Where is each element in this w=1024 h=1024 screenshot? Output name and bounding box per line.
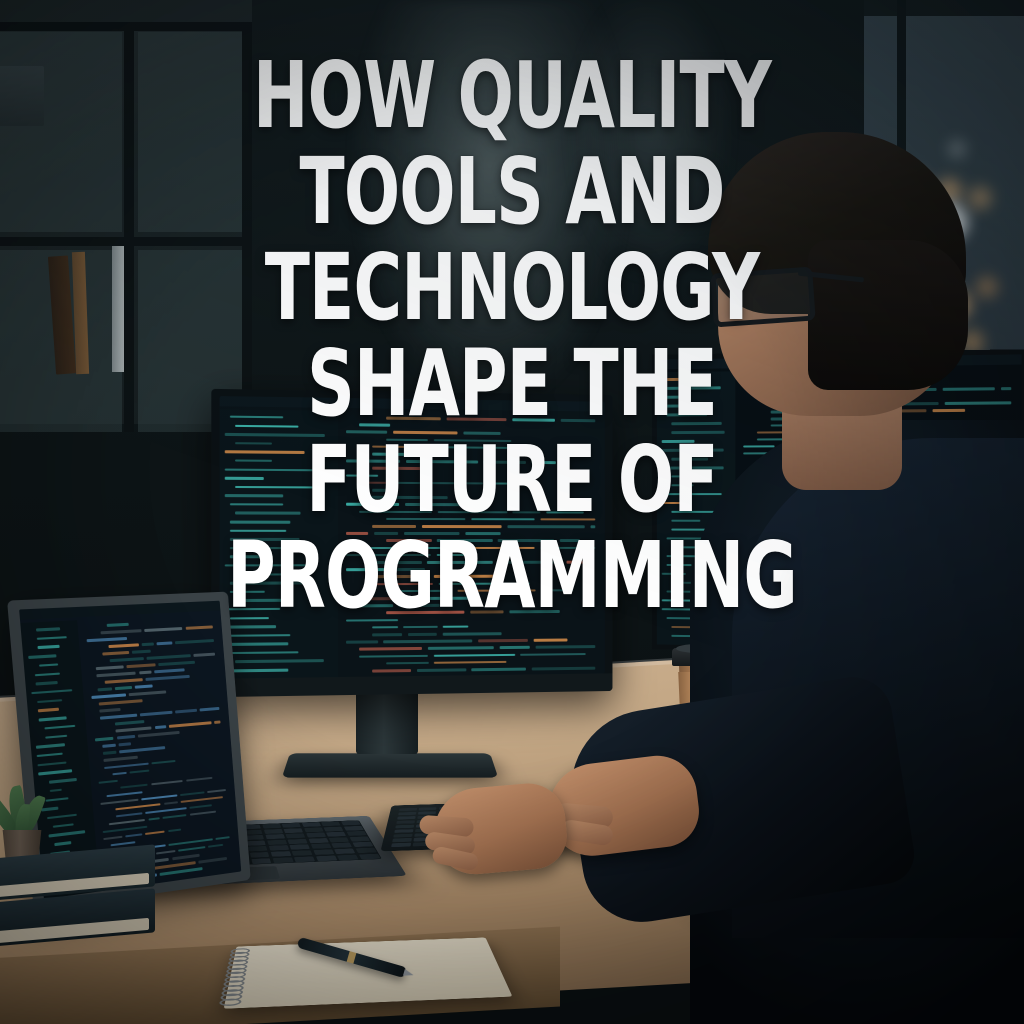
title-line: TOOLS AND xyxy=(102,144,921,240)
code-token xyxy=(102,651,129,655)
keyboard-key xyxy=(346,831,366,836)
code-token xyxy=(115,720,145,725)
keyboard-key xyxy=(393,834,412,838)
keyboard-key xyxy=(294,856,315,862)
keyboard-key xyxy=(321,821,340,826)
keyboard-key xyxy=(292,850,313,856)
file-tree-entry xyxy=(225,634,291,637)
code-token xyxy=(199,857,227,863)
code-token xyxy=(164,801,178,805)
keyboard-key xyxy=(341,821,360,826)
file-tree-entry xyxy=(235,660,324,664)
file-tree-entry xyxy=(38,708,59,712)
keyboard-key xyxy=(329,837,349,842)
keyboard-key xyxy=(344,826,364,831)
code-token xyxy=(120,783,148,789)
code-token xyxy=(190,810,216,816)
code-token xyxy=(145,675,190,681)
code-token xyxy=(145,627,183,632)
code-token xyxy=(109,819,145,826)
keyboard-key xyxy=(313,849,334,854)
title-line: HOW QUALITY xyxy=(102,48,921,144)
code-token xyxy=(115,686,132,690)
code-token xyxy=(175,639,214,644)
keyboard-key xyxy=(418,811,436,814)
poster-image: HOW QUALITY TOOLS AND TECHNOLOGY SHAPE T… xyxy=(0,0,1024,1024)
keyboard-key xyxy=(395,825,414,829)
keyboard-key xyxy=(359,854,380,860)
file-tree-entry xyxy=(36,681,58,685)
code-token xyxy=(472,668,527,671)
code-token xyxy=(119,743,131,747)
code-token xyxy=(130,769,149,774)
title-line: SHAPE THE xyxy=(102,336,921,432)
code-token xyxy=(152,760,175,765)
code-token xyxy=(154,669,184,674)
code-token xyxy=(100,798,138,805)
code-token xyxy=(384,640,473,644)
code-token xyxy=(104,762,149,769)
code-token xyxy=(107,791,143,798)
keyboard-key xyxy=(245,835,264,840)
code-token xyxy=(434,654,515,658)
code-token xyxy=(442,632,501,635)
file-tree-entry xyxy=(38,645,60,649)
code-token xyxy=(157,641,173,645)
keyboard-key xyxy=(267,840,287,845)
keyboard-key xyxy=(282,823,301,828)
title-line: TECHNOLOGY xyxy=(102,240,921,336)
code-token xyxy=(100,714,137,720)
monitor-base xyxy=(282,753,498,777)
file-tree-entry xyxy=(37,636,67,640)
code-token xyxy=(142,643,154,646)
code-token xyxy=(185,625,213,629)
monitor-stand xyxy=(356,688,418,754)
file-tree-entry xyxy=(36,627,60,631)
keyboard-key xyxy=(332,843,353,848)
file-tree-entry xyxy=(38,770,72,776)
keyboard-key xyxy=(392,838,411,842)
file-tree-entry xyxy=(53,823,74,828)
code-token xyxy=(104,678,142,683)
code-token xyxy=(141,794,177,801)
file-tree-entry xyxy=(225,643,289,646)
code-token xyxy=(373,633,403,636)
code-token xyxy=(100,708,121,712)
keyboard-key xyxy=(306,833,326,838)
file-tree-entry xyxy=(31,689,72,695)
keyboard-key xyxy=(266,834,285,839)
code-token xyxy=(208,844,223,849)
code-token xyxy=(532,667,595,670)
code-token xyxy=(129,691,167,696)
keyboard-key xyxy=(271,851,291,857)
code-token xyxy=(132,650,150,654)
code-token xyxy=(160,867,202,875)
keyboard-key xyxy=(308,838,328,843)
code-token xyxy=(151,780,183,786)
code-token xyxy=(520,653,585,656)
file-tree-entry xyxy=(36,743,66,748)
code-token xyxy=(145,807,187,814)
keyboard-key xyxy=(286,833,306,838)
keyboard-key xyxy=(394,829,413,833)
keyboard-key xyxy=(399,808,417,811)
code-token xyxy=(148,817,160,821)
keyboard-key xyxy=(324,827,344,832)
code-token xyxy=(536,646,596,649)
code-token xyxy=(126,663,155,668)
code-token xyxy=(139,671,151,674)
keyboard-key xyxy=(349,836,369,841)
code-token xyxy=(172,854,200,860)
code-token xyxy=(190,804,212,809)
file-tree-entry xyxy=(230,669,289,672)
code-token xyxy=(103,825,148,833)
book-stack xyxy=(0,844,155,951)
code-token xyxy=(140,711,172,716)
code-token xyxy=(135,685,152,689)
code-token xyxy=(115,812,142,818)
code-token xyxy=(359,655,428,658)
code-token xyxy=(145,830,165,835)
code-token xyxy=(186,776,212,781)
keyboard-key xyxy=(398,812,416,815)
code-token xyxy=(199,707,219,711)
code-token xyxy=(117,735,135,739)
keyboard-key xyxy=(249,852,269,858)
keyboard-key xyxy=(288,839,308,844)
window-frame xyxy=(864,0,1024,16)
keyboard-key xyxy=(251,858,272,864)
file-tree-entry xyxy=(39,663,58,667)
title-line: PROGRAMMING xyxy=(102,528,921,624)
code-token xyxy=(99,699,143,705)
code-token xyxy=(417,668,466,671)
file-tree-entry xyxy=(44,725,75,730)
code-token xyxy=(207,789,226,794)
keyboard-key xyxy=(311,844,331,849)
code-token xyxy=(373,669,412,672)
code-token xyxy=(180,791,204,796)
code-token xyxy=(91,694,125,699)
code-token xyxy=(215,836,229,840)
code-token xyxy=(125,833,142,838)
code-token xyxy=(96,666,123,670)
code-token xyxy=(169,722,212,728)
code-token xyxy=(155,726,167,730)
keyboard-key xyxy=(284,828,303,833)
keyboard-key xyxy=(352,842,373,847)
keyboard-key xyxy=(273,857,294,863)
code-token xyxy=(115,727,151,733)
spiral-ring xyxy=(219,998,242,1006)
file-tree-entry xyxy=(45,734,67,738)
keyboard-key xyxy=(290,844,310,849)
code-token xyxy=(181,796,223,803)
keyboard-key xyxy=(247,841,267,846)
code-token xyxy=(346,641,378,644)
keyboard-key xyxy=(419,807,437,810)
code-token xyxy=(109,657,143,662)
file-tree-entry xyxy=(28,654,56,658)
code-token xyxy=(386,662,429,665)
keyboard-key xyxy=(302,822,321,827)
keyboard-key xyxy=(248,846,268,851)
keyboard-key xyxy=(396,820,414,824)
keyboard-key xyxy=(269,845,289,850)
code-token xyxy=(98,779,117,784)
code-token xyxy=(178,846,205,852)
code-token xyxy=(138,731,180,737)
keyboard-key xyxy=(337,854,358,860)
code-token xyxy=(478,639,528,642)
code-token xyxy=(108,643,139,647)
code-token xyxy=(104,756,138,762)
code-token xyxy=(194,653,216,657)
file-tree-entry xyxy=(54,841,71,846)
code-token xyxy=(98,688,112,692)
file-tree-entry xyxy=(37,753,63,758)
keyboard-key xyxy=(264,829,283,834)
title-line: FUTURE OF xyxy=(102,432,921,528)
code-token xyxy=(359,647,422,650)
code-token xyxy=(159,661,195,666)
file-tree-entry xyxy=(225,651,298,654)
code-token xyxy=(156,850,176,855)
keyboard-key xyxy=(397,816,415,820)
code-token xyxy=(214,721,220,724)
spiral-notebook xyxy=(224,937,513,1008)
code-token xyxy=(175,709,197,713)
file-tree-entry xyxy=(37,699,62,703)
keyboard-key xyxy=(334,849,355,854)
keyboard-key xyxy=(391,843,411,847)
code-token xyxy=(103,744,116,748)
code-token xyxy=(169,838,213,846)
code-token xyxy=(163,814,187,819)
keyboard-key xyxy=(304,827,323,832)
code-token xyxy=(97,672,136,677)
code-token xyxy=(500,646,530,649)
keyboard-key xyxy=(316,855,337,861)
file-tree-entry xyxy=(39,716,67,721)
keyboard-key xyxy=(355,848,376,853)
keyboard-key xyxy=(326,832,346,837)
file-tree-entry xyxy=(35,672,60,676)
code-token xyxy=(103,836,122,841)
code-token xyxy=(87,637,128,642)
code-token xyxy=(146,654,190,659)
code-token xyxy=(103,751,116,755)
code-token xyxy=(95,737,114,741)
code-token xyxy=(434,661,506,664)
code-token xyxy=(119,747,165,754)
code-token xyxy=(534,639,568,642)
code-token xyxy=(115,803,161,811)
code-token xyxy=(428,647,494,650)
code-token xyxy=(100,629,142,634)
code-token xyxy=(168,828,181,832)
poster-title: HOW QUALITY TOOLS AND TECHNOLOGY SHAPE T… xyxy=(0,48,1024,624)
keyboard-key xyxy=(262,824,281,829)
file-tree-entry xyxy=(37,761,66,766)
shelf-frame xyxy=(0,0,252,24)
code-token xyxy=(112,771,127,775)
code-token xyxy=(408,633,436,636)
pen-band xyxy=(346,951,356,964)
